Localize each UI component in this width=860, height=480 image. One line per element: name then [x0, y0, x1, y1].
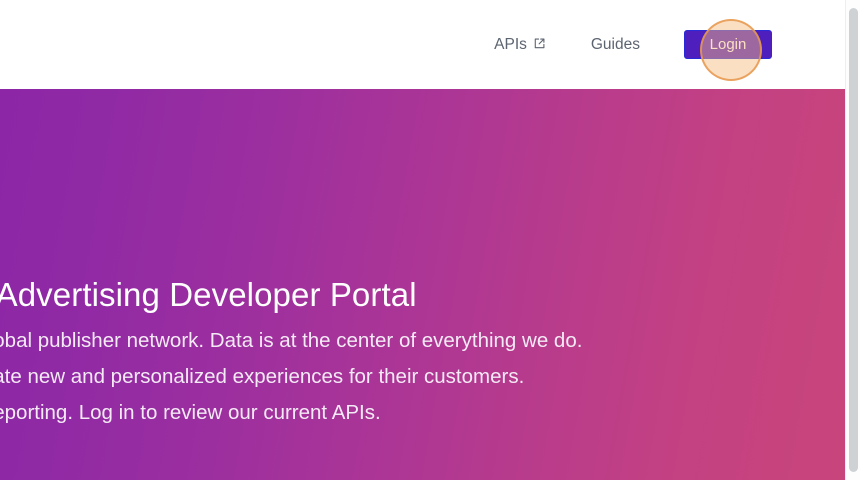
- hero-description-line: time reporting. Log in to review our cur…: [0, 395, 582, 431]
- browser-viewport: APIs Guides Login ten Advertising Develo…: [0, 0, 860, 480]
- nav-link-apis-label: APIs: [494, 37, 527, 53]
- hero-description-line: our global publisher network. Data is at…: [0, 323, 582, 359]
- hero-content: ten Advertising Developer Portal our glo…: [0, 89, 845, 480]
- hero-title: ten Advertising Developer Portal: [0, 275, 417, 315]
- vertical-scrollbar-track[interactable]: [845, 0, 860, 480]
- nav-link-guides[interactable]: Guides: [591, 29, 640, 61]
- hero-description: our global publisher network. Data is at…: [0, 323, 582, 430]
- nav-link-guides-label: Guides: [591, 37, 640, 53]
- site-header: APIs Guides Login: [0, 0, 845, 89]
- hero-banner: ten Advertising Developer Portal our glo…: [0, 89, 845, 480]
- external-link-icon: [534, 38, 545, 49]
- hero-description-line: to create new and personalized experienc…: [0, 359, 582, 395]
- nav-link-apis[interactable]: APIs: [494, 29, 545, 61]
- login-button[interactable]: Login: [684, 30, 772, 59]
- primary-navigation: APIs Guides Login: [494, 29, 845, 61]
- vertical-scrollbar-thumb[interactable]: [849, 8, 858, 472]
